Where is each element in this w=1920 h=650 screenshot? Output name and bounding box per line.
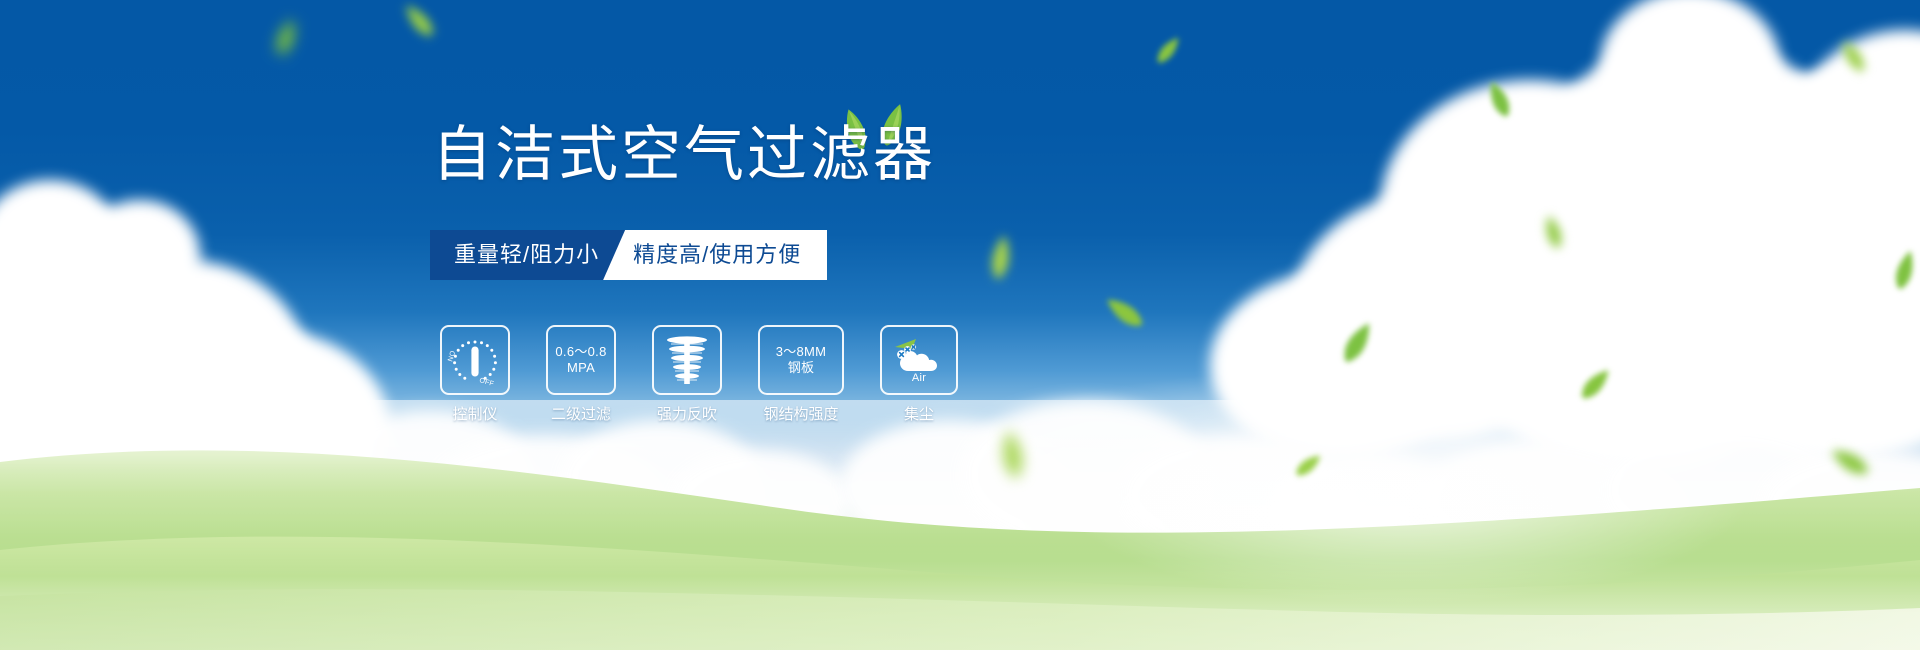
feature-label: 集尘 bbox=[904, 406, 934, 424]
badge-group: 重量轻/阻力小 精度高/使用方便 bbox=[430, 230, 827, 280]
feature-label: 强力反吹 bbox=[657, 406, 717, 424]
feature-icon-box: 0.6～0.8 MPA bbox=[546, 325, 616, 395]
page-title: 自洁式空气过滤器 bbox=[432, 125, 936, 185]
feature-label: 控制仪 bbox=[452, 406, 497, 424]
control-dial-icon: NO OFF bbox=[446, 332, 504, 388]
feature-list: NO OFF 控制仪 0.6～0.8 MPA 二级过滤 bbox=[440, 325, 958, 424]
pressure-line-1: 0.6～0.8 bbox=[555, 344, 606, 360]
feature-item-dust[interactable]: Air 集尘 bbox=[880, 325, 958, 424]
feature-item-pressure[interactable]: 0.6～0.8 MPA 二级过滤 bbox=[546, 325, 616, 424]
steel-line-2: 钢板 bbox=[788, 360, 815, 376]
air-label: Air bbox=[912, 372, 926, 383]
banner-content: 自洁式空气过滤器 重量轻/阻力小 精度高/使用方便 bbox=[0, 0, 1920, 650]
feature-item-backblow[interactable]: 强力反吹 bbox=[652, 325, 722, 424]
steel-line-1: 3～8MM bbox=[776, 344, 827, 360]
dial-off-label: OFF bbox=[478, 377, 494, 388]
feature-icon-box: Air bbox=[880, 325, 958, 395]
feature-label: 钢结构强度 bbox=[763, 406, 838, 424]
dial-on-label: NO bbox=[447, 350, 457, 363]
feature-icon-box: NO OFF bbox=[440, 325, 510, 395]
feature-icon-box: 3～8MM 钢板 bbox=[758, 325, 844, 395]
filter-stack-icon bbox=[661, 333, 713, 387]
badge-secondary: 精度高/使用方便 bbox=[603, 230, 827, 280]
feature-item-control[interactable]: NO OFF 控制仪 bbox=[440, 325, 510, 424]
badge-primary: 重量轻/阻力小 bbox=[430, 230, 625, 280]
air-cloud-icon: Air bbox=[890, 337, 948, 383]
feature-item-steel[interactable]: 3～8MM 钢板 钢结构强度 bbox=[758, 325, 844, 424]
pressure-line-2: MPA bbox=[567, 360, 595, 376]
product-banner: 自洁式空气过滤器 重量轻/阻力小 精度高/使用方便 bbox=[0, 0, 1920, 650]
feature-label: 二级过滤 bbox=[551, 406, 611, 424]
feature-icon-box bbox=[652, 325, 722, 395]
